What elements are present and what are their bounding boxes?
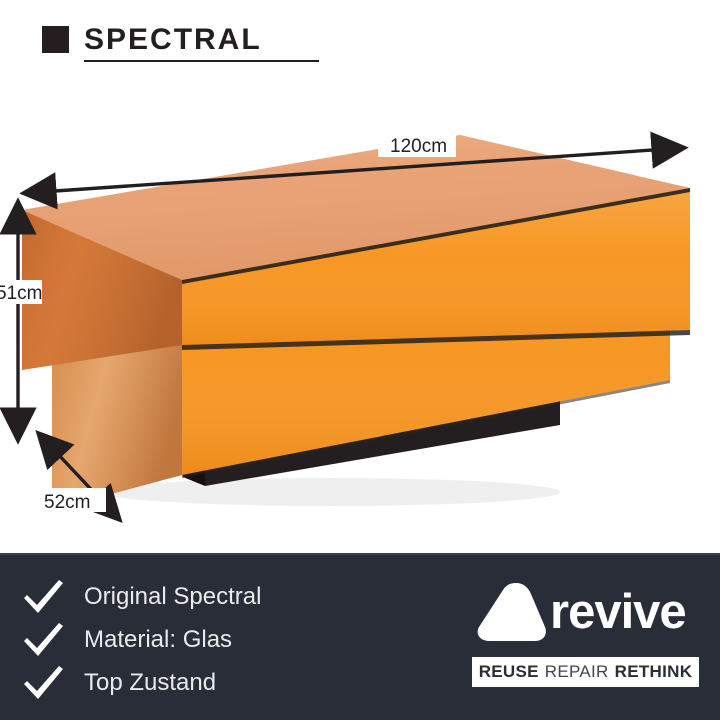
revive-logo: revive REUSE REPAIR RETHINK <box>472 581 704 693</box>
floor-shadow <box>100 478 560 506</box>
revive-tagline-badge: REUSE REPAIR RETHINK <box>472 657 699 687</box>
list-item: Top Zustand <box>22 663 422 703</box>
info-banner: Original Spectral Material: Glas Top Zus… <box>0 553 720 720</box>
dimension-depth-label: 52cm <box>44 492 90 513</box>
brand-name: SPECTRAL <box>84 20 262 60</box>
filled-square-icon <box>42 26 69 53</box>
brand-header: SPECTRAL <box>42 20 342 60</box>
list-item-label: Material: Glas <box>84 620 232 660</box>
list-item-label: Top Zustand <box>84 663 216 703</box>
checkmark-icon <box>22 579 66 615</box>
product-illustration: 120cm 51cm 52cm <box>0 80 720 550</box>
revive-logo-row: revive <box>472 581 704 643</box>
revive-wordmark: revive <box>550 583 686 641</box>
list-item: Original Spectral <box>22 577 422 617</box>
banner-divider <box>0 553 720 555</box>
tagline-word-reuse: REUSE <box>479 662 539 682</box>
checkmark-icon <box>22 622 66 658</box>
tagline-word-rethink: RETHINK <box>615 662 693 682</box>
tagline-word-repair: REPAIR <box>545 662 609 682</box>
dimension-width-label: 120cm <box>390 136 447 157</box>
list-item-label: Original Spectral <box>84 577 261 617</box>
list-item: Material: Glas <box>22 620 422 660</box>
feature-list: Original Spectral Material: Glas Top Zus… <box>22 577 422 706</box>
brand-underline-divider <box>84 60 319 62</box>
product-image: 120cm 51cm 52cm <box>0 80 720 550</box>
checkmark-icon <box>22 665 66 701</box>
revive-leaf-icon <box>476 581 548 643</box>
dimension-height-label: 51cm <box>0 283 42 304</box>
